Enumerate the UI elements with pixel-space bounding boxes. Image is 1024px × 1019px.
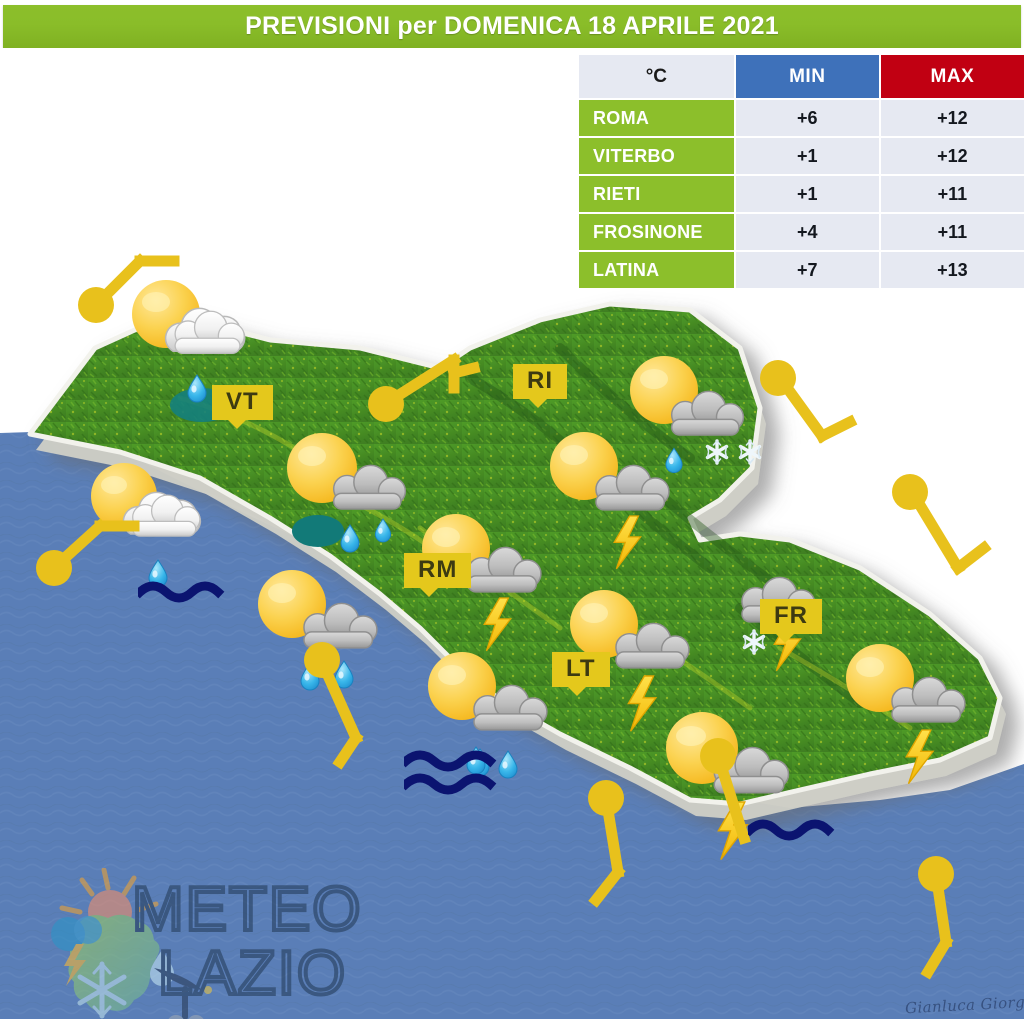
wind-barb[interactable] — [362, 340, 477, 425]
weather-icon-sun-cloud-thunder[interactable] — [836, 632, 1011, 812]
city-tag-label: RI — [527, 367, 553, 394]
logo-text-meteo: METEO — [132, 875, 362, 944]
city-tag-frosinone[interactable]: FR — [760, 599, 822, 634]
lightning-icon — [614, 516, 640, 569]
city-tag-rieti[interactable]: RI — [513, 364, 567, 399]
lightning-icon — [628, 676, 656, 731]
wind-barb[interactable] — [694, 738, 794, 878]
table-cell-city: VITERBO — [579, 138, 734, 174]
wind-station-dot — [892, 474, 928, 510]
temperature-table: °C MIN MAX ROMA +6 +12 VITERBO +1 +12 — [579, 53, 1024, 290]
table-cell-min: +4 — [736, 214, 879, 250]
page-title: PREVISIONI per DOMENICA 18 APRILE 2021 — [245, 12, 779, 41]
table-header-row: °C MIN MAX — [579, 55, 1024, 98]
forecast-graphic: PREVISIONI per DOMENICA 18 APRILE 2021 — [0, 0, 1024, 1019]
logo-text-lazio: LAZIO — [158, 939, 347, 1008]
wind-barb[interactable] — [758, 360, 868, 460]
wind-barb[interactable] — [30, 500, 140, 585]
meteo-lazio-logo: METEO LAZIO — [42, 868, 382, 1019]
table-row: RIETI +1 +11 — [579, 176, 1024, 212]
table-row: FROSINONE +4 +11 — [579, 214, 1024, 250]
table-cell-min: +1 — [736, 138, 879, 174]
wind-station-dot — [918, 856, 954, 892]
header-bar: PREVISIONI per DOMENICA 18 APRILE 2021 — [3, 5, 1021, 48]
sea-state-wave-single — [748, 816, 848, 842]
wind-barb[interactable] — [70, 233, 180, 323]
table-row: LATINA +7 +13 — [579, 252, 1024, 288]
wind-station-dot — [78, 287, 114, 323]
table-cell-min: +6 — [736, 100, 879, 136]
sea-state-wave-single — [138, 578, 238, 604]
city-tag-roma[interactable]: RM — [404, 553, 471, 588]
raindrop-icon — [188, 375, 206, 402]
table-cell-city: RIETI — [579, 176, 734, 212]
wind-station-dot — [760, 360, 796, 396]
table-cell-max: +12 — [881, 138, 1024, 174]
wind-station-dot — [36, 550, 72, 586]
city-tag-label: VT — [226, 388, 259, 415]
sea-state-wave-double — [404, 748, 512, 798]
city-tag-label: RM — [418, 556, 457, 583]
city-tag-latina[interactable]: LT — [552, 652, 610, 687]
wind-station-dot — [700, 738, 736, 774]
raindrop-icon — [375, 519, 390, 542]
table-cell-city: ROMA — [579, 100, 734, 136]
table-row: VITERBO +1 +12 — [579, 138, 1024, 174]
snowflake-icon — [745, 631, 764, 653]
table-cell-max: +13 — [881, 252, 1024, 288]
table-cell-min: +7 — [736, 252, 879, 288]
raindrop-icon — [341, 525, 359, 552]
table-cell-city: LATINA — [579, 252, 734, 288]
table-header-max: MAX — [881, 55, 1024, 98]
table-cell-max: +11 — [881, 176, 1024, 212]
wind-barb[interactable] — [888, 470, 998, 595]
table-header-unit: °C — [579, 55, 734, 98]
table-cell-max: +11 — [881, 214, 1024, 250]
lightning-icon — [906, 730, 933, 784]
wind-barb[interactable] — [298, 638, 393, 773]
table-cell-max: +12 — [881, 100, 1024, 136]
wind-barb[interactable] — [576, 776, 676, 916]
wind-station-dot — [588, 780, 624, 816]
table-cell-city: FROSINONE — [579, 214, 734, 250]
wind-station-dot — [304, 642, 340, 678]
table-cell-min: +1 — [736, 176, 879, 212]
table-row: ROMA +6 +12 — [579, 100, 1024, 136]
city-tag-label: LT — [566, 655, 596, 682]
city-tag-label: FR — [774, 602, 808, 629]
wind-barb[interactable] — [908, 848, 998, 988]
snowflake-icon — [741, 441, 760, 463]
wind-station-dot — [368, 386, 404, 422]
table-header-min: MIN — [736, 55, 879, 98]
city-tag-viterbo[interactable]: VT — [212, 385, 273, 420]
